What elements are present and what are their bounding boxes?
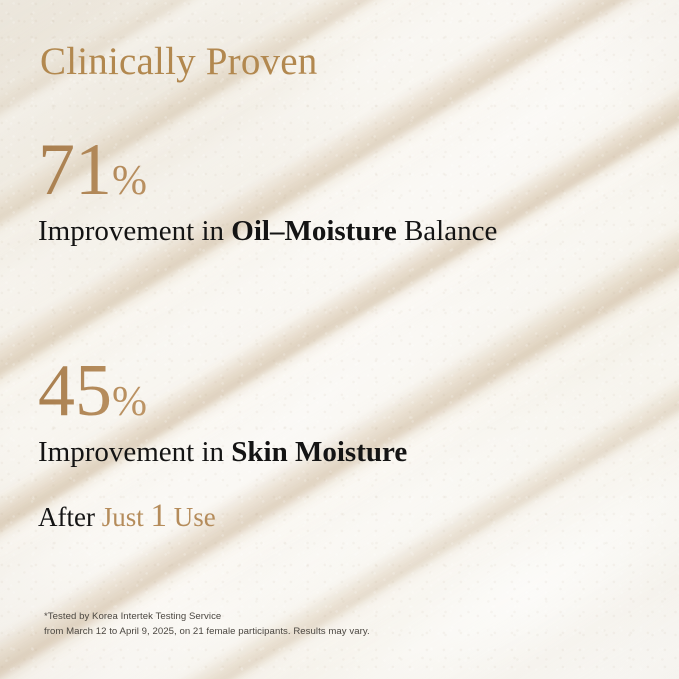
percent-sign: % [112,379,147,425]
stat-caption-skin-moisture: Improvement in Skin Moisture [38,433,407,472]
caption-lead: Improvement in [38,436,231,468]
disclaimer-footnote: *Tested by Korea Intertek Testing Servic… [44,610,370,640]
stat-block-oil-moisture: 71% Improvement in Oil–Moisture Balance [38,136,497,251]
after-suffix: Use [167,502,216,532]
stat-number-text: 45 [38,350,112,432]
percent-sign: % [112,158,147,204]
content-layer: Clinically Proven 71% Improvement in Oil… [0,0,679,679]
caption-lead: Improvement in [38,215,231,247]
after-prefix: After [38,502,102,532]
caption-emphasis: Skin Moisture [231,436,407,468]
footnote-line-2: from March 12 to April 9, 2025, on 21 fe… [44,625,370,640]
caption-tail: Balance [397,215,498,247]
stat-number-text: 71 [38,129,112,211]
after-just: Just [102,502,151,532]
footnote-line-1: *Tested by Korea Intertek Testing Servic… [44,610,370,625]
page-title: Clinically Proven [40,42,317,81]
stat-block-skin-moisture: 45% Improvement in Skin Moisture [38,357,407,472]
promo-image: Clinically Proven 71% Improvement in Oil… [0,0,679,679]
after-count: 1 [151,498,168,534]
stat-caption-oil-moisture: Improvement in Oil–Moisture Balance [38,212,497,251]
caption-emphasis: Oil–Moisture [231,215,396,247]
stat-value-71: 71% [38,136,497,204]
stat-value-45: 45% [38,357,407,425]
after-use-line: After Just 1 Use [38,497,216,537]
